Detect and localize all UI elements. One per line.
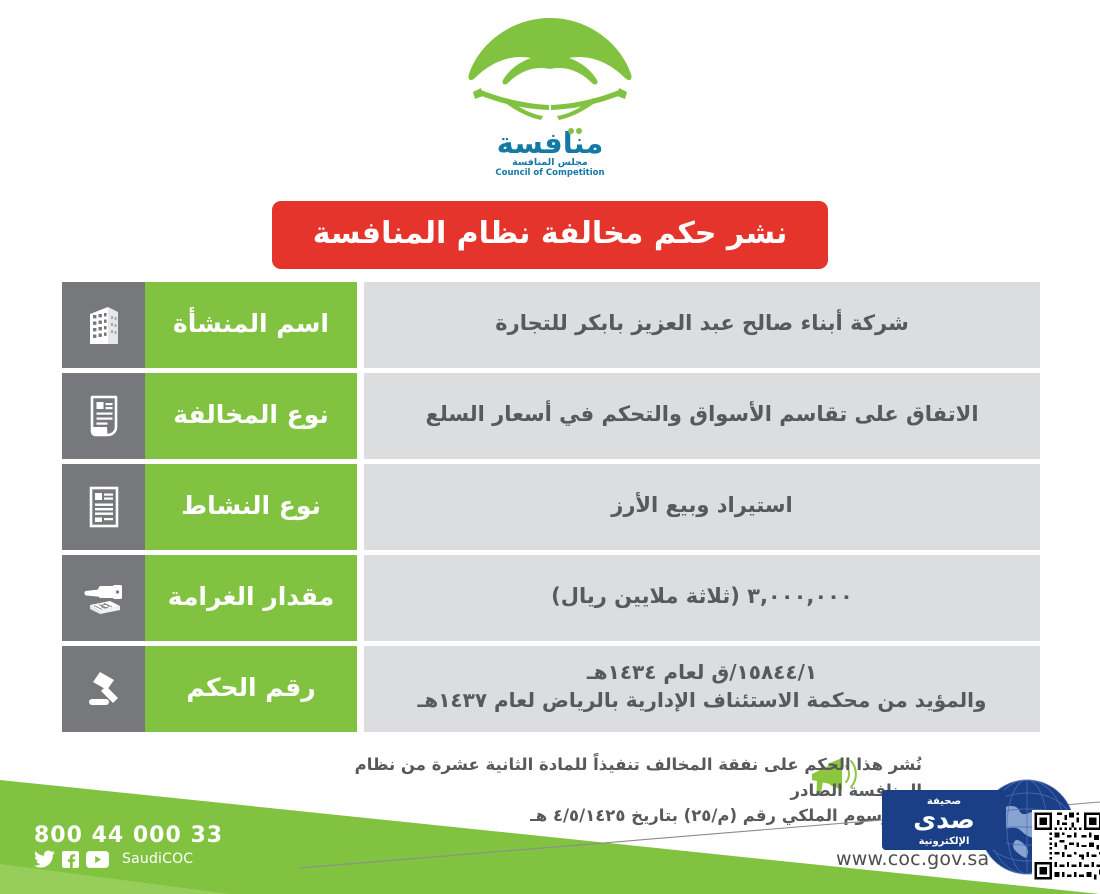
form-list-icon <box>84 484 124 530</box>
social-handle: SaudiCOC <box>122 851 193 867</box>
value-line-1: ١٥٨٤٤/١/ق لعام ١٤٣٤هـ <box>587 660 817 684</box>
wordmark-sub-arabic: مجلس المنافسة <box>512 157 588 168</box>
contact-block: 800 44 000 33 SaudiCOC <box>34 824 223 868</box>
value-text: ٣,٠٠٠,٠٠٠ (ثلاثة ملايين ريال) <box>551 582 853 611</box>
phone-number: 800 44 000 33 <box>34 824 223 847</box>
manafasa-wordmark-icon: منافسة مجلس المنافسة Council of Competit… <box>475 124 625 180</box>
table-cell-label: اسم المنشأة <box>145 282 357 368</box>
label-text: نوع النشاط <box>181 493 321 522</box>
table-cell-value: ٣,٠٠٠,٠٠٠ (ثلاثة ملايين ريال) <box>364 555 1040 641</box>
label-text: نوع المخالفة <box>173 402 329 431</box>
table-row: استيراد وبيع الأرز نوع النشاط <box>62 464 1040 550</box>
footnote-line-1: نُشر هذا الحكم على نفقة المخالف تنفيذاً … <box>282 752 922 803</box>
page-title: نشر حكم مخالفة نظام المنافسة <box>313 219 788 252</box>
table-cell-label: مقدار الغرامة <box>145 555 357 641</box>
table-cell-icon <box>62 282 145 368</box>
table-cell-value: استيراد وبيع الأرز <box>364 464 1040 550</box>
table-cell-icon <box>62 373 145 459</box>
gavel-icon <box>81 666 127 712</box>
building-icon <box>82 302 126 348</box>
label-text: اسم المنشأة <box>173 311 329 340</box>
footnote-line-2: بالمرسوم الملكي رقم (م/٢٥) بتاريخ ٤/٥/١٤… <box>282 803 922 829</box>
council-logo: منافسة مجلس المنافسة Council of Competit… <box>0 14 1100 189</box>
table-row: ٣,٠٠٠,٠٠٠ (ثلاثة ملايين ريال) مقدار الغر… <box>62 555 1040 641</box>
cash-hand-icon <box>80 575 128 621</box>
facebook-icon[interactable] <box>62 851 79 868</box>
youtube-icon[interactable] <box>86 851 109 868</box>
sada-newspaper-logo: صحيفة صدى الإلكترونية <box>882 790 1006 850</box>
label-text: مقدار الغرامة <box>168 584 334 613</box>
document-scroll-icon <box>83 393 125 439</box>
value-line-2: والمؤيد من محكمة الاستئناف الإدارية بالر… <box>418 688 987 712</box>
footnote: نُشر هذا الحكم على نفقة المخالف تنفيذاً … <box>282 752 922 829</box>
label-text: رقم الحكم <box>186 675 315 704</box>
table-cell-icon <box>62 464 145 550</box>
wordmark-sub-english: Council of Competition <box>495 168 604 178</box>
table-row: شركة أبناء صالح عبد العزيز بابكر للتجارة… <box>62 282 1040 368</box>
twitter-icon[interactable] <box>34 850 55 868</box>
qr-code-icon <box>1032 810 1100 882</box>
value-text-multiline: ١٥٨٤٤/١/ق لعام ١٤٣٤هـ والمؤيد من محكمة ا… <box>418 659 987 714</box>
watermark-block: صحيفة صدى الإلكترونية <box>836 778 1100 894</box>
wordmark-arabic: منافسة <box>497 126 604 160</box>
table-cell-icon <box>62 555 145 641</box>
infographic-page: منافسة مجلس المنافسة Council of Competit… <box>0 0 1100 894</box>
sada-bottom-label: الإلكترونية <box>919 836 970 847</box>
table-cell-value: الاتفاق على تقاسم الأسواق والتحكم في أسع… <box>364 373 1040 459</box>
table-cell-label: نوع النشاط <box>145 464 357 550</box>
page-title-banner: نشر حكم مخالفة نظام المنافسة <box>272 201 828 269</box>
value-text: استيراد وبيع الأرز <box>611 491 793 520</box>
value-text: شركة أبناء صالح عبد العزيز بابكر للتجارة <box>495 309 908 338</box>
table-cell-label: نوع المخالفة <box>145 373 357 459</box>
case-details-table: شركة أبناء صالح عبد العزيز بابكر للتجارة… <box>62 282 1040 737</box>
saudi-palm-swords-emblem-icon <box>445 14 655 126</box>
table-cell-value: ١٥٨٤٤/١/ق لعام ١٤٣٤هـ والمؤيد من محكمة ا… <box>364 646 1040 732</box>
table-cell-value: شركة أبناء صالح عبد العزيز بابكر للتجارة <box>364 282 1040 368</box>
value-text: الاتفاق على تقاسم الأسواق والتحكم في أسع… <box>425 400 978 429</box>
table-row: الاتفاق على تقاسم الأسواق والتحكم في أسع… <box>62 373 1040 459</box>
website-url[interactable]: www.coc.gov.sa <box>836 848 989 870</box>
table-cell-icon <box>62 646 145 732</box>
sada-main-label: صدى <box>913 805 975 834</box>
table-row: ١٥٨٤٤/١/ق لعام ١٤٣٤هـ والمؤيد من محكمة ا… <box>62 646 1040 732</box>
social-links: SaudiCOC <box>34 850 223 868</box>
table-cell-label: رقم الحكم <box>145 646 357 732</box>
